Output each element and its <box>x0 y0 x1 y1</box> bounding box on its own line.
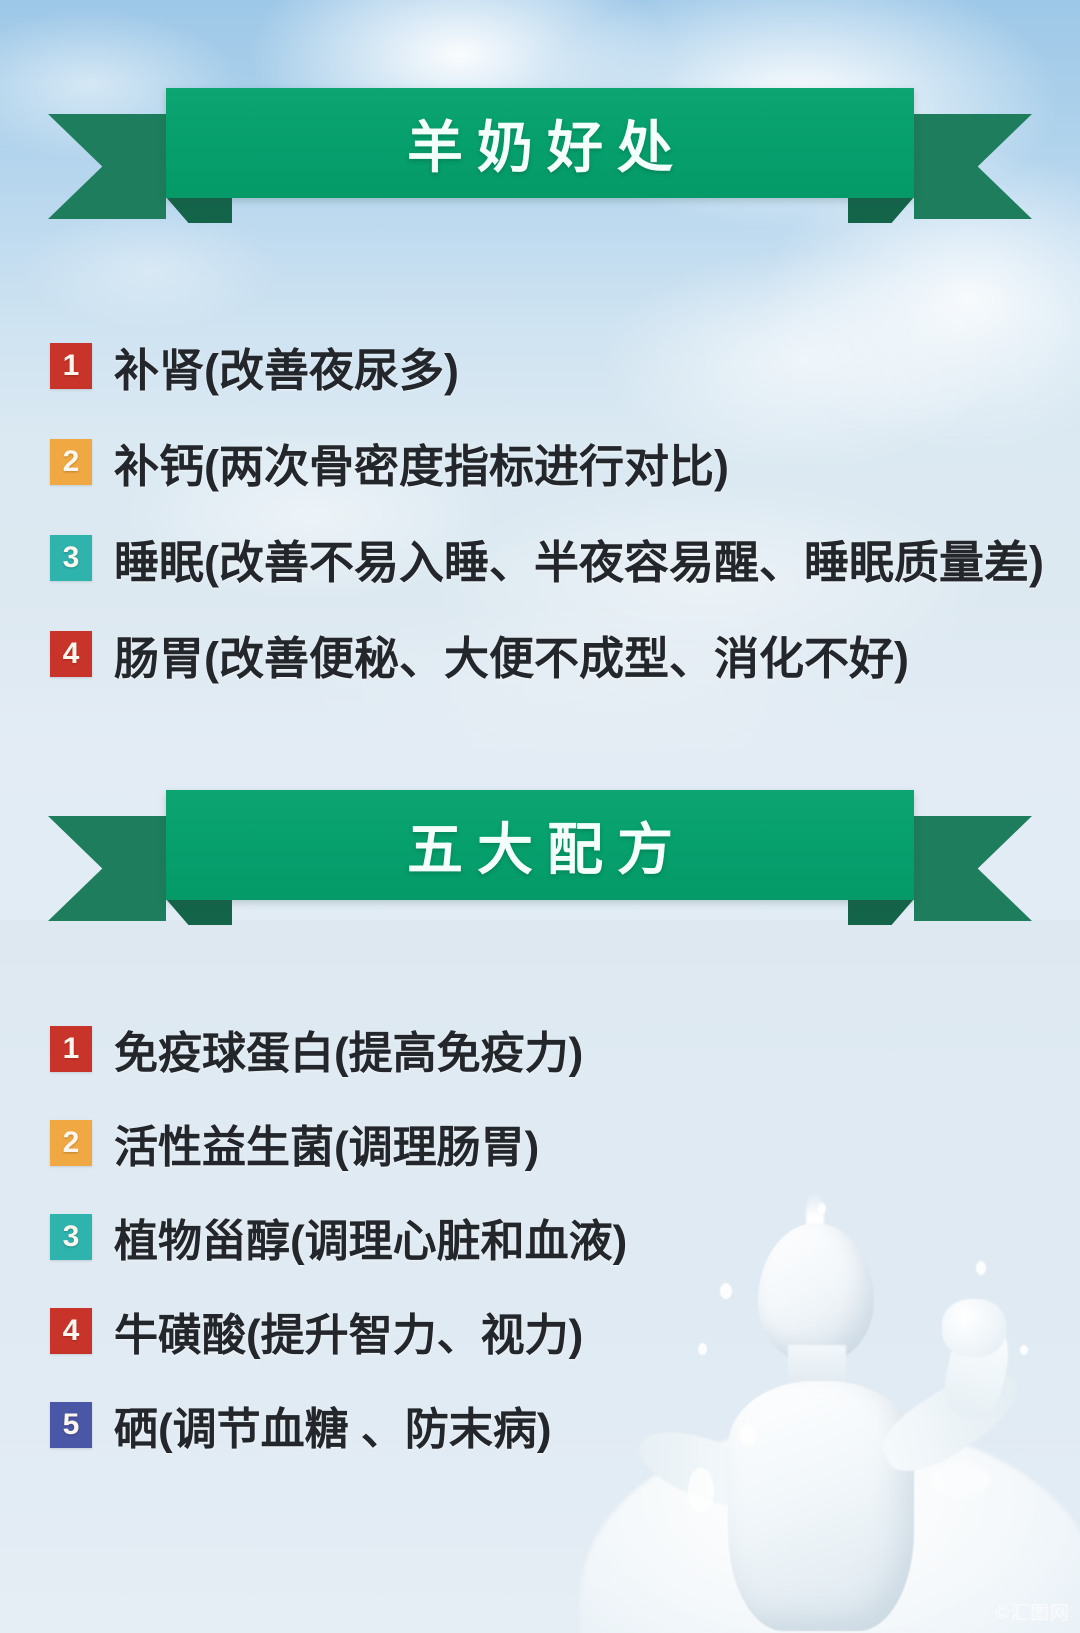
number-badge: 2 <box>50 439 92 485</box>
list-item: 3 植物甾醇(调理心脏和血液) <box>50 1190 1064 1284</box>
list-item: 1 免疫球蛋白(提高免疫力) <box>50 1002 1064 1096</box>
number-badge: 4 <box>50 1308 92 1354</box>
list-item-label: 补肾(改善夜尿多) <box>114 334 459 399</box>
list-item: 4 肠胃(改善便秘、大便不成型、消化不好) <box>50 606 1064 702</box>
watermark: ©汇图网 <box>995 1598 1070 1625</box>
list-item: 2 活性益生菌(调理肠胃) <box>50 1096 1064 1190</box>
section-banner-formula: 五大配方 <box>0 772 1080 922</box>
ribbon-fold-left <box>166 899 232 925</box>
number-badge: 4 <box>50 631 92 677</box>
list-item: 1 补肾(改善夜尿多) <box>50 318 1064 414</box>
ribbon-tail-left <box>48 114 166 219</box>
ribbon-fold-right <box>848 899 914 925</box>
ribbon-tail-right <box>914 816 1032 921</box>
ribbon-fold-right <box>848 197 914 223</box>
ribbon-body: 羊奶好处 <box>166 88 914 198</box>
milk-droplet <box>688 1468 714 1512</box>
list-item: 3 睡眠(改善不易入睡、半夜容易醒、睡眠质量差) <box>50 510 1064 606</box>
cloud-shape <box>20 210 280 330</box>
list-item-label: 睡眠(改善不易入睡、半夜容易醒、睡眠质量差) <box>114 526 1044 591</box>
list-item-label: 硒(调节血糖 、防末病) <box>114 1393 552 1457</box>
benefits-list: 1 补肾(改善夜尿多) 2 补钙(两次骨密度指标进行对比) 3 睡眠(改善不易入… <box>50 318 1064 702</box>
list-item-label: 补钙(两次骨密度指标进行对比) <box>114 430 729 495</box>
number-badge: 1 <box>50 343 92 389</box>
ribbon-body: 五大配方 <box>166 790 914 900</box>
section-banner-benefits: 羊奶好处 <box>0 70 1080 220</box>
ribbon-tail-right <box>914 114 1032 219</box>
number-badge: 3 <box>50 1214 92 1260</box>
number-badge: 3 <box>50 535 92 581</box>
formula-list: 1 免疫球蛋白(提高免疫力) 2 活性益生菌(调理肠胃) 3 植物甾醇(调理心脏… <box>50 1002 1064 1472</box>
number-badge: 5 <box>50 1402 92 1448</box>
list-item: 4 牛磺酸(提升智力、视力) <box>50 1284 1064 1378</box>
ribbon-tail-left <box>48 816 166 921</box>
list-item-label: 肠胃(改善便秘、大便不成型、消化不好) <box>114 622 909 687</box>
number-badge: 2 <box>50 1120 92 1166</box>
list-item-label: 牛磺酸(提升智力、视力) <box>114 1299 583 1363</box>
banner-title-benefits: 羊奶好处 <box>393 103 687 184</box>
list-item: 5 硒(调节血糖 、防末病) <box>50 1378 1064 1472</box>
list-item: 2 补钙(两次骨密度指标进行对比) <box>50 414 1064 510</box>
list-item-label: 活性益生菌(调理肠胃) <box>114 1111 539 1175</box>
list-item-label: 免疫球蛋白(提高免疫力) <box>114 1017 583 1081</box>
list-item-label: 植物甾醇(调理心脏和血液) <box>114 1205 627 1269</box>
banner-title-formula: 五大配方 <box>393 805 687 886</box>
number-badge: 1 <box>50 1026 92 1072</box>
poster-canvas: 羊奶好处 1 补肾(改善夜尿多) 2 补钙(两次骨密度指标进行对比) 3 睡眠(… <box>0 0 1080 1633</box>
ribbon-fold-left <box>166 197 232 223</box>
